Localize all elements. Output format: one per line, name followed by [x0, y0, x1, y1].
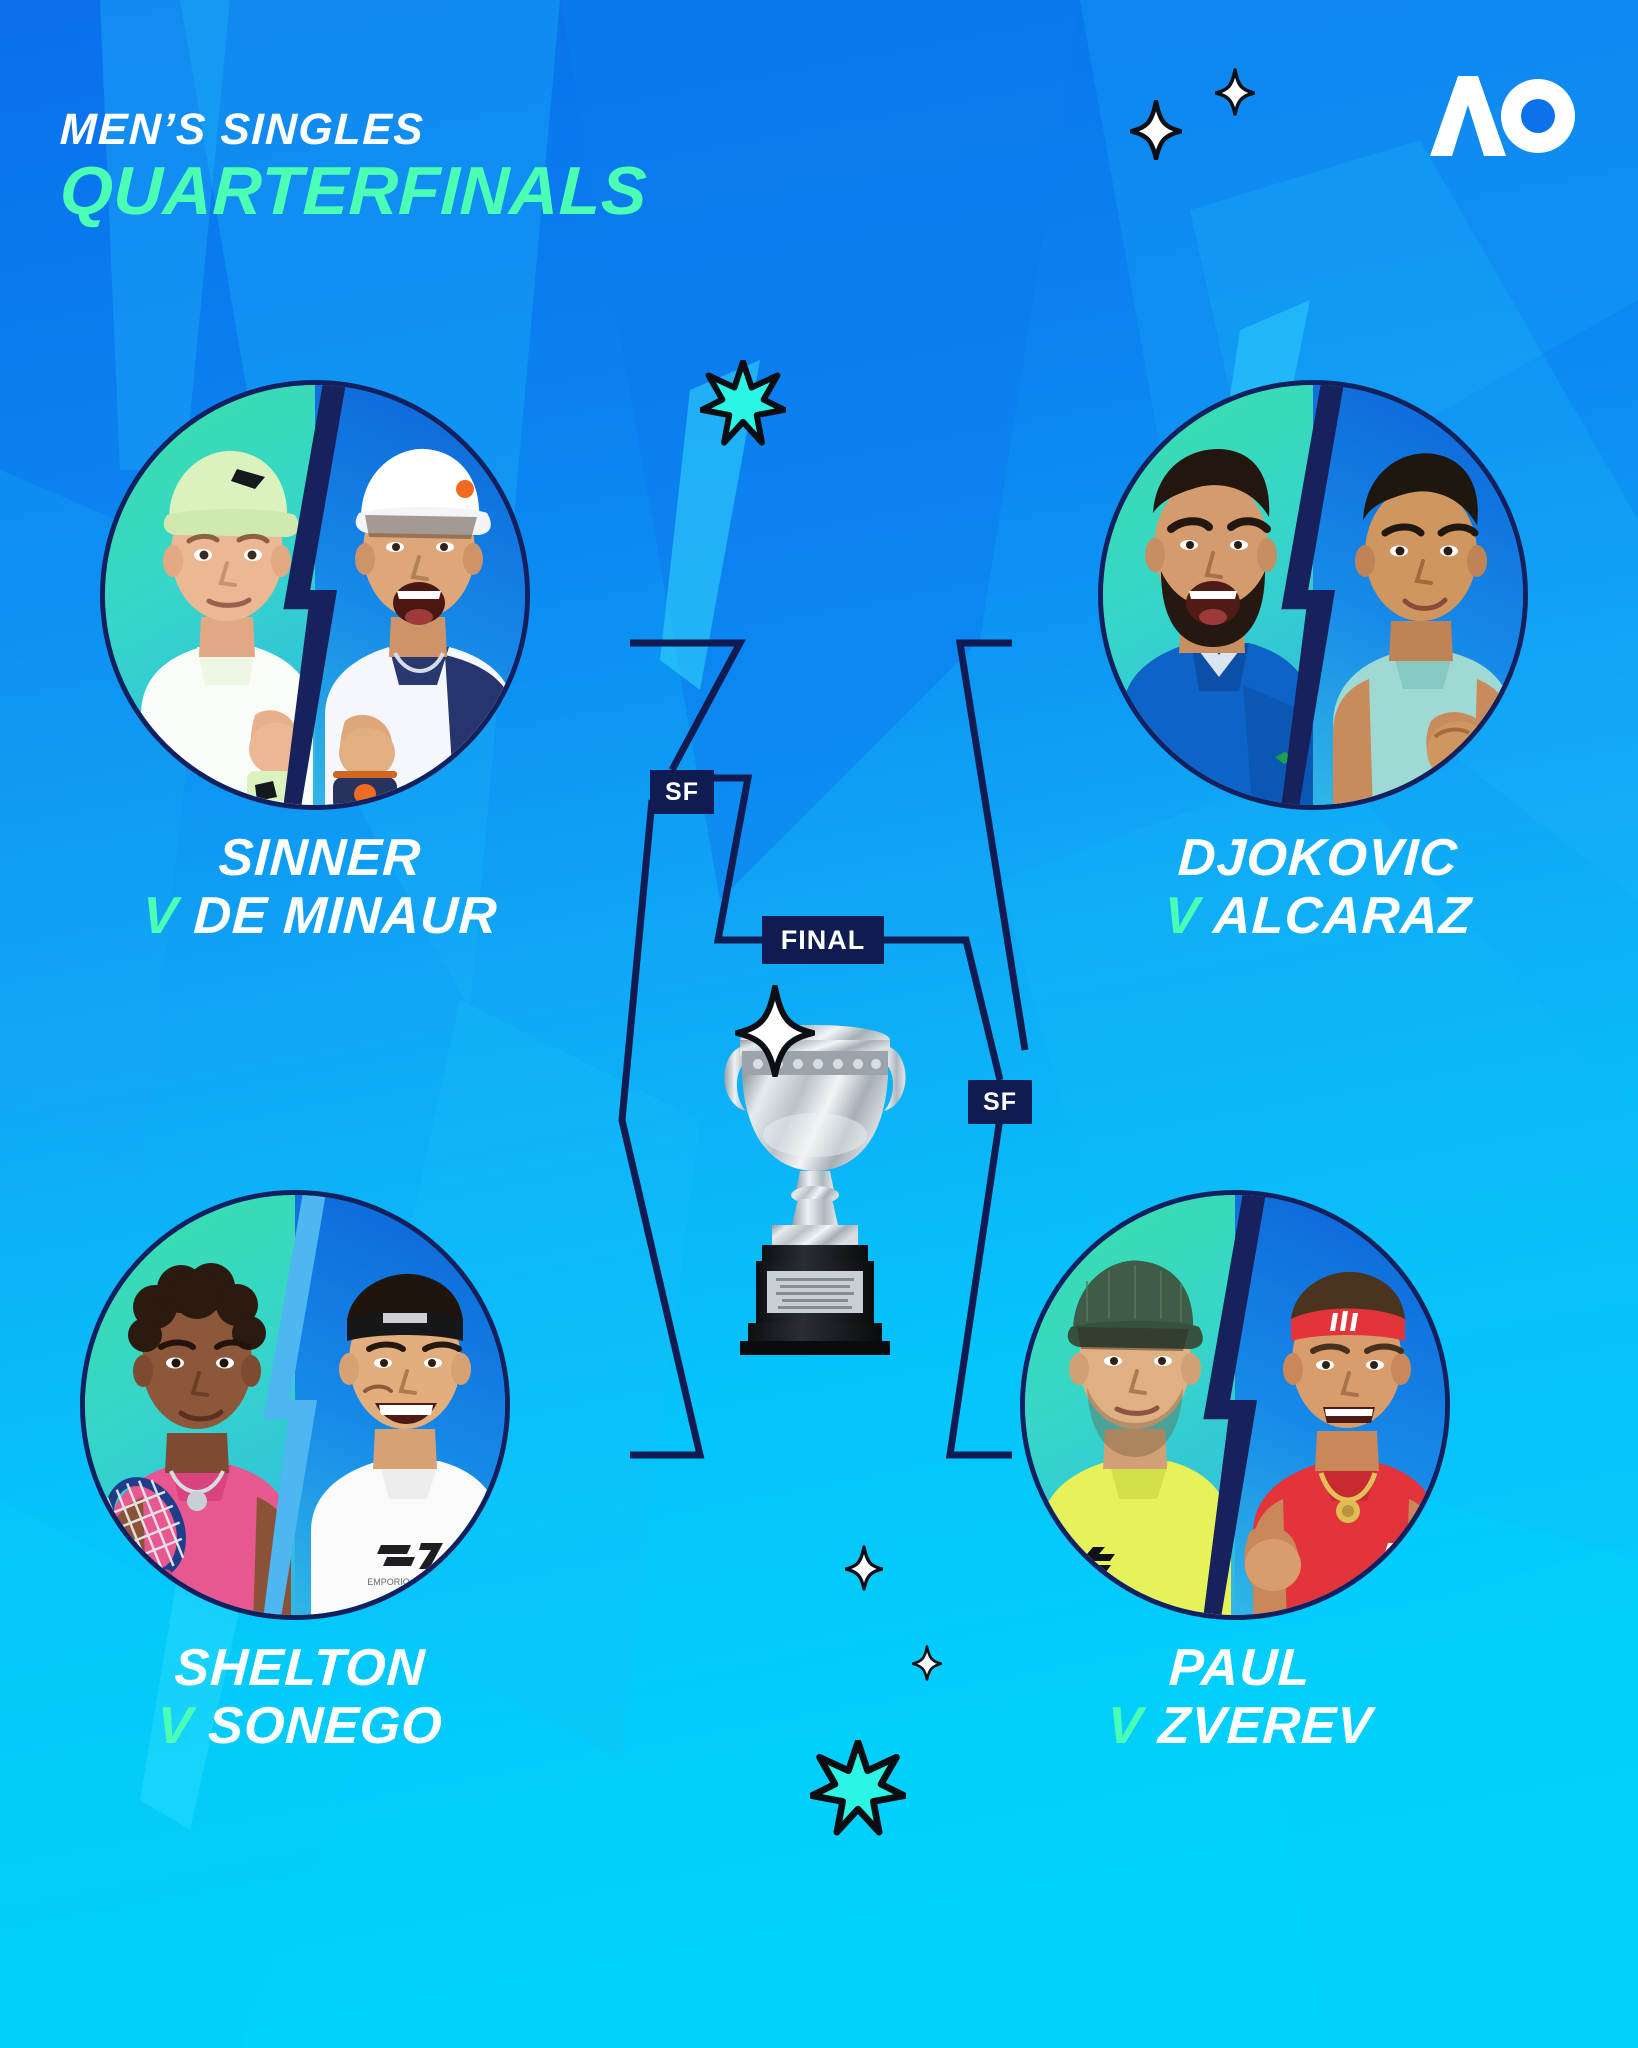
- matchup-photo-circle-qf3: EMPORIO ARMANI: [80, 1190, 510, 1620]
- versus-separator: V: [141, 887, 180, 945]
- matchup-player-two: V SONEGO: [79, 1700, 522, 1752]
- header-title-block: MEN’S SINGLES QUARTERFINALS: [60, 108, 647, 227]
- matchup-player-two-label: ALCARAZ: [1212, 887, 1473, 945]
- matchup-card-qf3[interactable]: EMPORIO ARMANI SHELTON V SONEGO: [80, 1190, 520, 1752]
- matchup-player-two-label: ZVEREV: [1157, 1697, 1374, 1755]
- lightning-divider-icon: [1201, 1190, 1268, 1620]
- matchup-player-one: SHELTON: [79, 1642, 522, 1694]
- versus-separator: V: [1106, 1697, 1145, 1755]
- ao-logo: AO: [1426, 72, 1576, 163]
- versus-separator: V: [156, 1697, 195, 1755]
- page-subtitle: MEN’S SINGLES: [59, 108, 648, 152]
- matchup-photo-circle-qf1: [100, 380, 530, 810]
- lightning-divider-icon: [281, 380, 348, 810]
- matchup-player-two: V DE MINAUR: [99, 890, 542, 942]
- matchup-names-qf4: PAUL V ZVEREV: [1020, 1642, 1460, 1752]
- matchup-player-two-label: SONEGO: [207, 1697, 444, 1755]
- matchup-card-qf2[interactable]: DJOKOVIC V ALCARAZ: [1098, 380, 1538, 942]
- matchup-player-one: SINNER: [99, 832, 542, 884]
- matchup-player-two: V ZVEREV: [1019, 1700, 1462, 1752]
- four-point-sparkle-icon-small-a: [1130, 100, 1182, 165]
- matchup-photo-circle-qf2: [1098, 380, 1528, 810]
- badge-semifinal-top-label: SF: [665, 778, 699, 807]
- matchup-photo-circle-qf4: [1020, 1190, 1450, 1620]
- matchup-player-two-label: DE MINAUR: [192, 887, 499, 945]
- four-point-sparkle-icon-small-b: [1215, 68, 1255, 121]
- lightning-divider-icon: [261, 1190, 328, 1620]
- matchup-player-one: DJOKOVIC: [1097, 832, 1540, 884]
- badge-semifinal-bottom: SF: [968, 1080, 1032, 1124]
- versus-separator: V: [1163, 887, 1202, 945]
- page-title: QUARTERFINALS: [59, 156, 649, 227]
- matchup-names-qf3: SHELTON V SONEGO: [80, 1642, 520, 1752]
- seven-point-star-icon-top: [700, 360, 786, 451]
- matchup-player-one: PAUL: [1019, 1642, 1462, 1694]
- four-point-sparkle-icon-small-d: [912, 1645, 942, 1686]
- matchup-names-qf2: DJOKOVIC V ALCARAZ: [1098, 832, 1538, 942]
- badge-semifinal-bottom-label: SF: [983, 1088, 1017, 1117]
- four-point-sparkle-icon-small-c: [845, 1545, 883, 1596]
- matchup-names-qf1: SINNER V DE MINAUR: [100, 832, 540, 942]
- badge-final: FINAL: [762, 916, 884, 964]
- badge-final-label: FINAL: [781, 925, 865, 956]
- seven-point-star-icon-bottom: [810, 1740, 906, 1841]
- matchup-card-qf4[interactable]: PAUL V ZVEREV: [1020, 1190, 1460, 1752]
- matchup-player-two: V ALCARAZ: [1097, 890, 1540, 942]
- badge-semifinal-top: SF: [650, 770, 714, 814]
- lightning-divider-icon: [1279, 380, 1346, 810]
- graphic-canvas: MEN’S SINGLES QUARTERFINALS AO SF: [0, 0, 1638, 2048]
- svg-text:EMPORIO ARMANI: EMPORIO ARMANI: [367, 1577, 447, 1587]
- matchup-card-qf1[interactable]: SINNER V DE MINAUR: [100, 380, 540, 942]
- four-point-sparkle-icon: [735, 985, 815, 1082]
